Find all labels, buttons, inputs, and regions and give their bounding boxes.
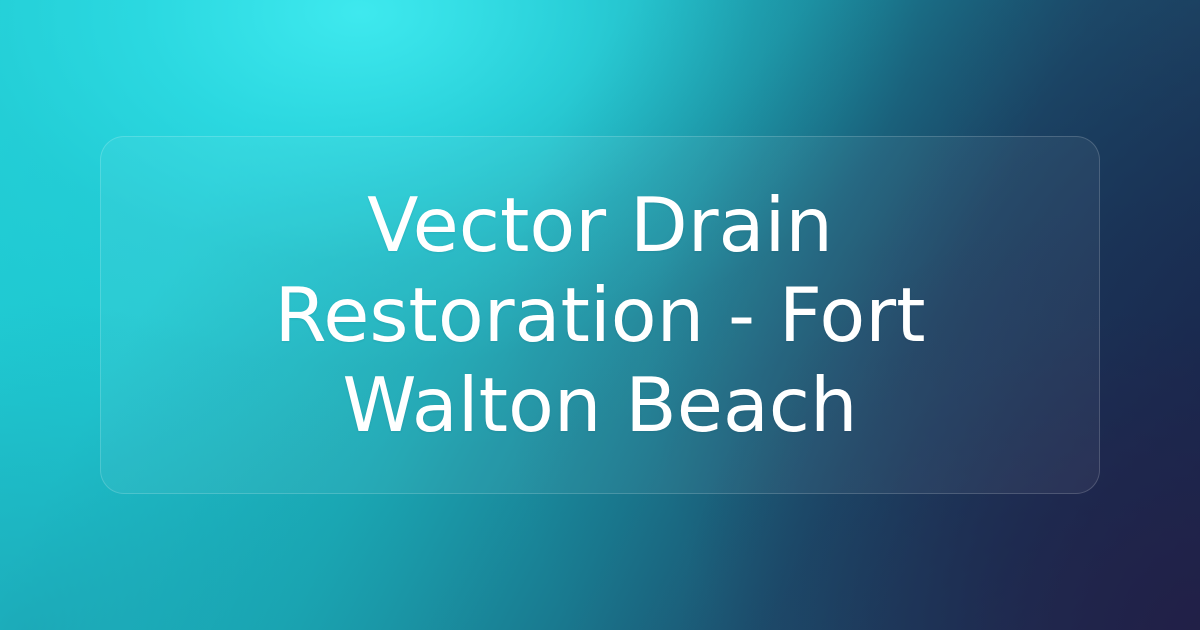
og-card-canvas: Vector Drain Restoration - Fort Walton B… [0, 0, 1200, 630]
glass-card-panel: Vector Drain Restoration - Fort Walton B… [100, 136, 1100, 494]
card-title: Vector Drain Restoration - Fort Walton B… [147, 180, 1053, 450]
